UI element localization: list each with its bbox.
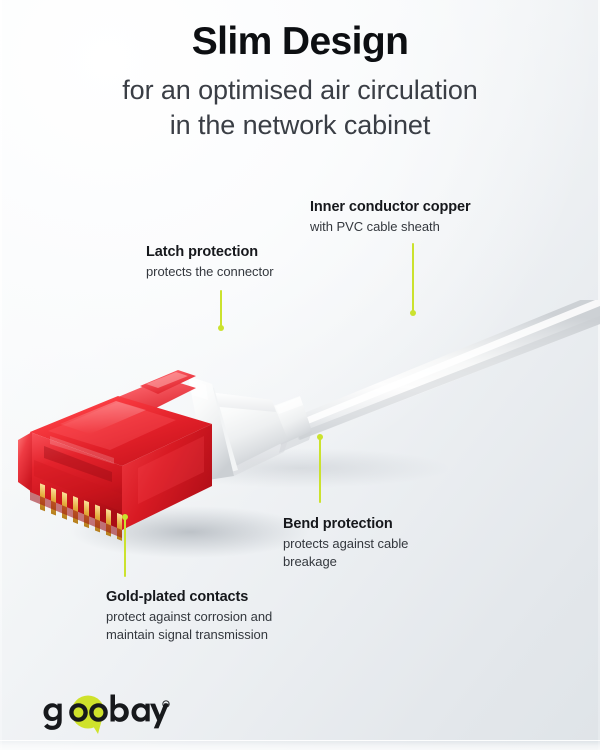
annotation-title: Latch protection — [146, 243, 274, 261]
annotation-title: Bend protection — [283, 515, 408, 533]
speech-bubble-icon — [72, 696, 105, 735]
annotation-body-line: breakage — [283, 553, 408, 571]
leader-line-gold-plated-contacts — [124, 517, 126, 577]
annotation-body: protects the connector — [146, 263, 274, 281]
headline-block: Slim Design for an optimised air circula… — [0, 22, 600, 143]
annotation-title: Inner conductor copper — [310, 198, 471, 216]
subtitle-line-2: in the network cabinet — [0, 108, 600, 143]
annotation-title: Gold-plated contacts — [106, 588, 272, 606]
annotation-inner-conductor-copper: Inner conductor copper with PVC cable sh… — [310, 198, 471, 236]
leader-line-inner-conductor-copper — [412, 243, 414, 313]
subtitle-line-1: for an optimised air circulation — [0, 73, 600, 108]
svg-text:R: R — [164, 702, 167, 707]
annotation-body: protects against cable breakage — [283, 535, 408, 571]
annotation-body: protect against corrosion and maintain s… — [106, 608, 272, 644]
page-title: Slim Design — [0, 22, 600, 63]
infographic-canvas: Slim Design for an optimised air circula… — [0, 0, 600, 750]
annotation-body-line: protect against corrosion and — [106, 608, 272, 626]
annotation-body-line: with PVC cable sheath — [310, 218, 471, 236]
bottom-edge-strip — [0, 740, 600, 750]
goobay-wordmark — [44, 695, 169, 730]
cable-body — [292, 300, 600, 440]
annotation-body-line: protects the connector — [146, 263, 274, 281]
annotation-body: with PVC cable sheath — [310, 218, 471, 236]
goobay-logo[interactable]: R — [40, 694, 170, 736]
leader-line-latch-protection — [220, 290, 222, 328]
annotation-body-line: maintain signal transmission — [106, 626, 272, 644]
annotation-bend-protection: Bend protection protects against cable b… — [283, 515, 408, 571]
annotation-body-line: protects against cable — [283, 535, 408, 553]
annotation-gold-plated-contacts: Gold-plated contacts protect against cor… — [106, 588, 272, 644]
annotation-latch-protection: Latch protection protects the connector — [146, 243, 274, 281]
leader-line-bend-protection — [319, 437, 321, 503]
